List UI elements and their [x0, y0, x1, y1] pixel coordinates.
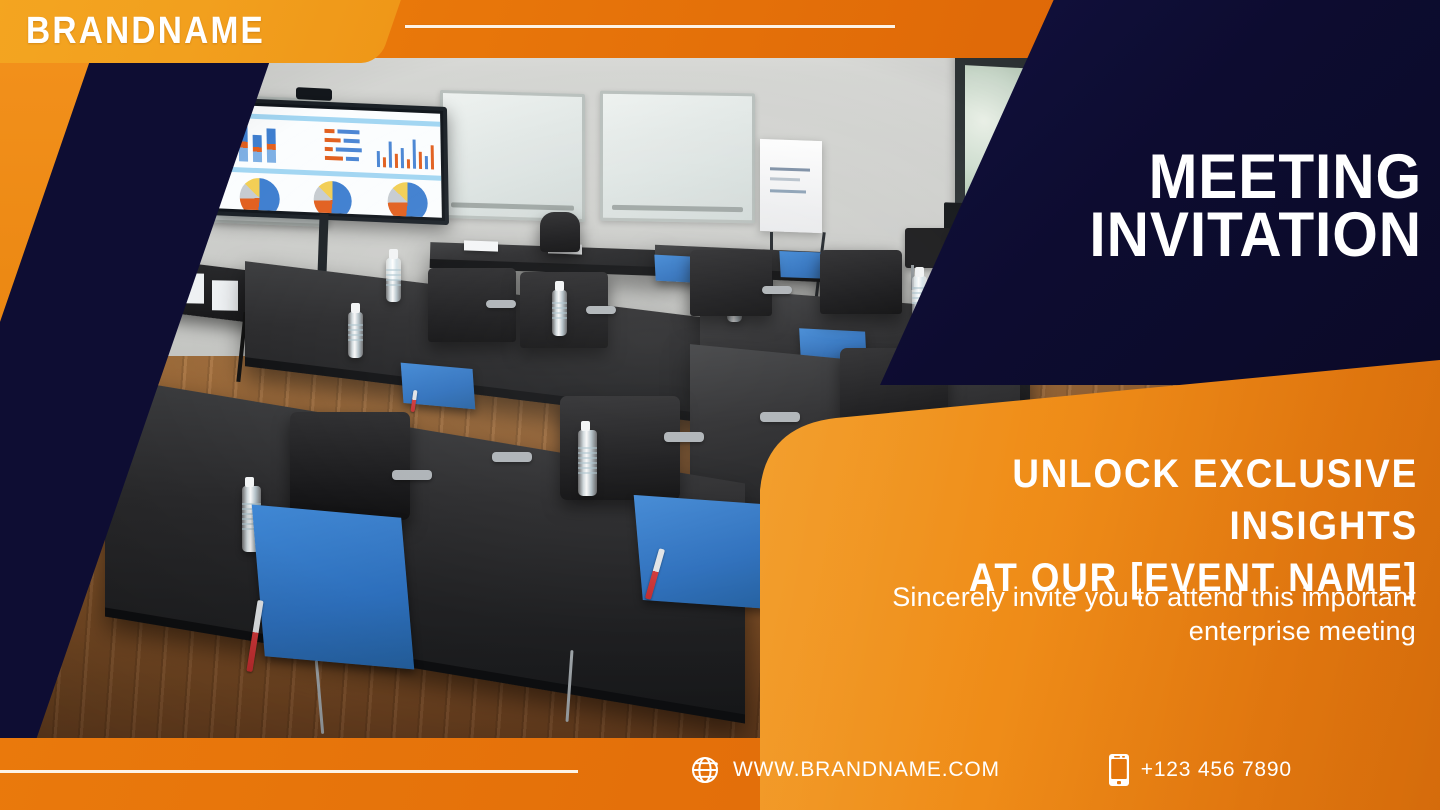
website-label: WWW.BRANDNAME.COM: [733, 758, 1000, 782]
website-contact[interactable]: WWW.BRANDNAME.COM: [690, 754, 1000, 786]
title-line-2: INVITATION: [976, 206, 1422, 264]
invitation-subtext: Sincerely invite you to attend this impo…: [796, 580, 1416, 648]
top-band-rule: [405, 25, 895, 28]
meeting-invitation-poster: BRANDNAME MEETING INVITATION UNLOCK EXCL…: [0, 0, 1440, 810]
headline-line-1: UNLOCK EXCLUSIVE INSIGHTS: [866, 448, 1418, 552]
bottom-band-rule: [0, 770, 578, 773]
phone-icon: [1108, 753, 1130, 787]
subtext-line-1: Sincerely invite you to attend this impo…: [892, 582, 1416, 612]
footer-contacts: WWW.BRANDNAME.COM +123 456 7890: [690, 746, 1430, 794]
brand-name: BRANDNAME: [26, 9, 316, 53]
phone-label: +123 456 7890: [1141, 758, 1292, 782]
globe-icon: [690, 754, 722, 786]
title-line-1: MEETING: [976, 148, 1422, 206]
phone-contact[interactable]: +123 456 7890: [1108, 753, 1292, 787]
page-title: MEETING INVITATION: [942, 148, 1422, 264]
subtext-line-2: enterprise meeting: [1189, 616, 1416, 646]
